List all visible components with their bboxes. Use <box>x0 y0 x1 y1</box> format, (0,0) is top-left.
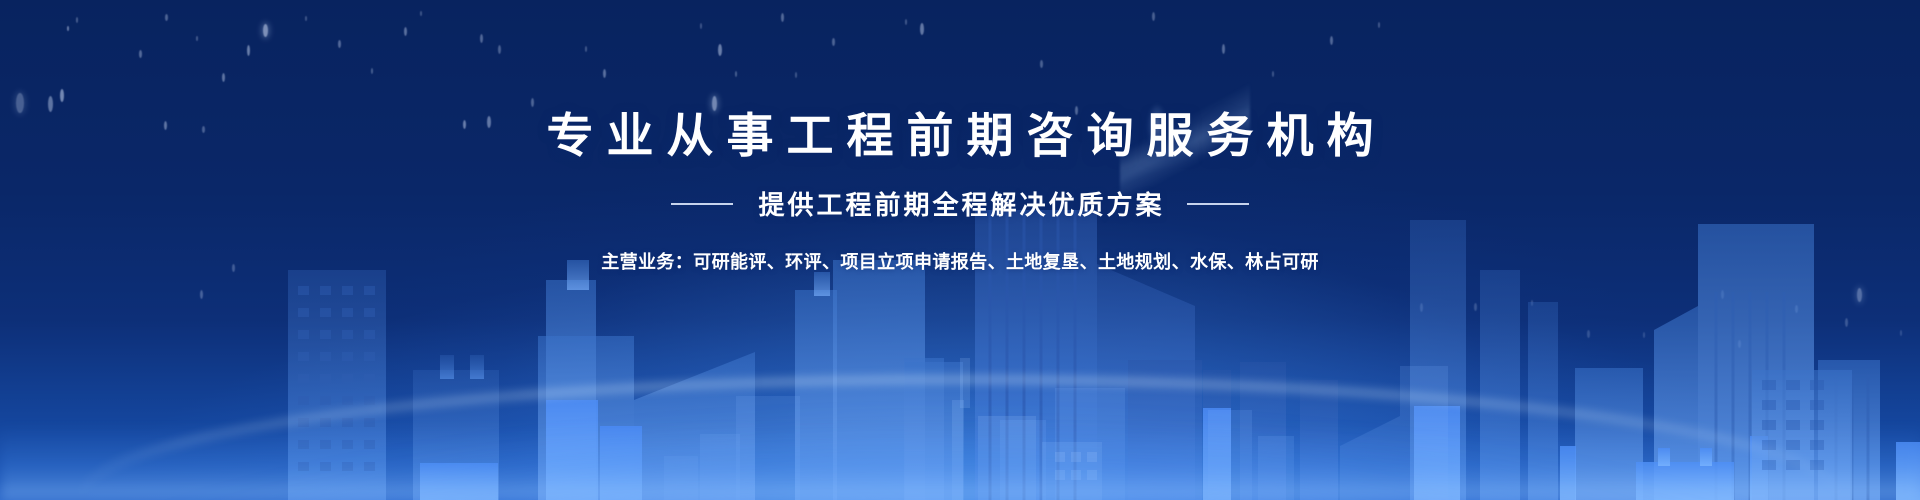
rule-left-icon <box>671 203 733 205</box>
subtitle-row: 提供工程前期全程解决优质方案 <box>0 185 1920 222</box>
hero-banner: 专业从事工程前期咨询服务机构 提供工程前期全程解决优质方案 主营业务：可研能评、… <box>0 0 1920 500</box>
banner-content: 专业从事工程前期咨询服务机构 提供工程前期全程解决优质方案 主营业务：可研能评、… <box>0 0 1920 274</box>
rule-right-icon <box>1187 203 1249 205</box>
services-tagline: 主营业务：可研能评、环评、项目立项申请报告、土地复垦、土地规划、水保、林占可研 <box>0 248 1920 274</box>
page-title: 专业从事工程前期咨询服务机构 <box>0 112 1920 159</box>
page-subtitle: 提供工程前期全程解决优质方案 <box>755 185 1164 222</box>
